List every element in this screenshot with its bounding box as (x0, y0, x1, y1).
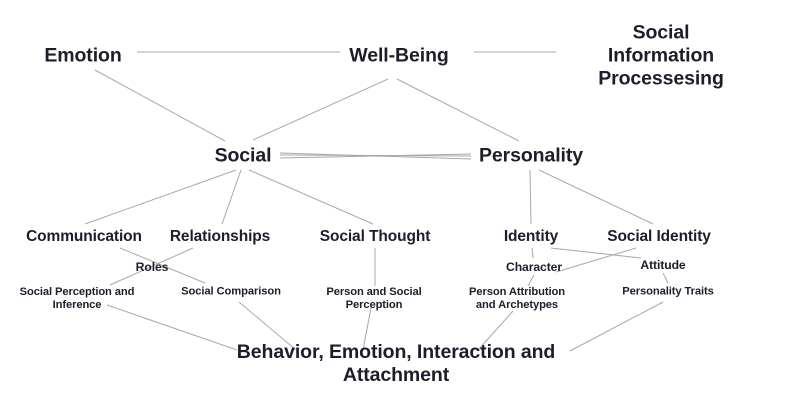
node-identity: Identity (504, 228, 558, 246)
node-social-comparison: Social Comparison (181, 285, 281, 298)
node-communication: Communication (26, 228, 142, 246)
edge-personality-to-social-identity (539, 170, 653, 224)
node-personality: Personality (479, 145, 583, 168)
edge-well-being-to-social (253, 79, 388, 140)
node-social: Social (215, 145, 272, 168)
node-person-social-perception: Person and Social Perception (326, 286, 421, 312)
node-social-thought: Social Thought (320, 228, 431, 246)
edge-identity-to-attitude (551, 248, 641, 258)
edge-social-to-relationships (222, 170, 241, 224)
edge-identity-to-character (532, 248, 533, 258)
edge-personality-to-identity (530, 170, 531, 224)
concept-map-diagram: EmotionWell-BeingSocial Information Proc… (0, 0, 800, 406)
edge-social-identity-to-person-attribution (556, 248, 636, 272)
node-social-information: Social Information Processesing (592, 22, 731, 91)
node-attitude: Attitude (640, 258, 685, 272)
edge-social-to-personality_c (280, 154, 471, 158)
edge-social-to-social-thought (249, 170, 373, 224)
node-personality-traits: Personality Traits (622, 285, 713, 298)
edge-emotion-to-social (95, 70, 225, 141)
node-social-identity: Social Identity (607, 228, 711, 246)
node-emotion: Emotion (44, 45, 121, 68)
edge-social-to-personality_b (280, 153, 471, 159)
edge-social-to-communication (85, 170, 236, 224)
edge-attitude-to-personality-traits (663, 273, 668, 283)
node-person-attribution: Person Attribution and Archetypes (469, 286, 565, 312)
node-behavior-emotion: Behavior, Emotion, Interaction and Attac… (194, 341, 598, 387)
edge-social-to-personality (280, 155, 471, 156)
node-social-perception: Social Perception and Inference (20, 286, 135, 312)
edge-well-being-to-personality (397, 79, 519, 141)
edge-character-to-person-attribution (528, 275, 534, 286)
node-relationships: Relationships (170, 228, 270, 246)
node-roles: Roles (136, 260, 169, 274)
node-character: Character (506, 260, 562, 274)
node-well-being: Well-Being (349, 45, 448, 68)
